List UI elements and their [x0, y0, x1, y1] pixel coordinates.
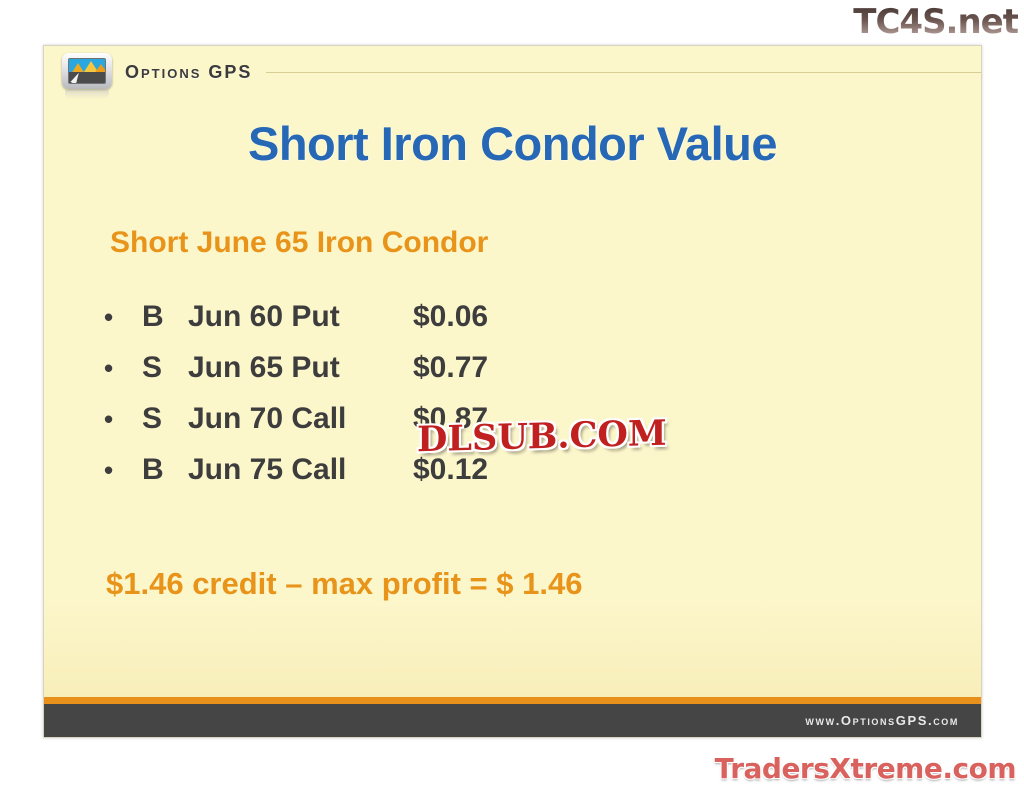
leg-description: Jun 75 Call [188, 453, 413, 487]
list-item: • S Jun 65 Put $0.77 [104, 351, 981, 402]
slide-body: Short Iron Condor Value Short June 65 Ir… [44, 98, 981, 697]
option-legs-list: • B Jun 60 Put $0.06 • S Jun 65 Put $0.7… [104, 300, 981, 504]
leg-description: Jun 65 Put [188, 351, 413, 385]
slide-footer: www.OptionsGPS.com [44, 697, 981, 737]
leg-price: $0.77 [413, 351, 488, 385]
gps-device-icon [62, 53, 112, 91]
bullet-icon: • [104, 355, 142, 381]
watermark-tradersxtreme: TradersXtreme.com [715, 752, 1016, 785]
page-title: Short Iron Condor Value [44, 116, 981, 171]
watermark-dlsub: DLSUB.COM [417, 413, 667, 461]
list-item: • B Jun 75 Call $0.12 [104, 453, 981, 504]
leg-price: $0.06 [413, 300, 488, 334]
header-divider [266, 72, 981, 73]
presentation-slide: Options GPS Short Iron Condor Value Shor… [43, 45, 982, 738]
profit-summary: $1.46 credit – max profit = $ 1.46 [106, 566, 981, 602]
brand-wordmark: Options GPS [125, 62, 252, 83]
watermark-tc4s: TC4S.net [853, 2, 1018, 42]
leg-side: S [142, 402, 188, 436]
list-item: • B Jun 60 Put $0.06 [104, 300, 981, 351]
bullet-icon: • [104, 304, 142, 330]
bullet-icon: • [104, 406, 142, 432]
footer-website-url: www.OptionsGPS.com [805, 713, 959, 728]
leg-side: B [142, 300, 188, 334]
logo-screen [68, 58, 106, 84]
leg-side: B [142, 453, 188, 487]
leg-description: Jun 70 Call [188, 402, 413, 436]
leg-description: Jun 60 Put [188, 300, 413, 334]
footer-accent-stripe [44, 697, 981, 704]
strategy-subheading: Short June 65 Iron Condor [110, 226, 981, 260]
leg-side: S [142, 351, 188, 385]
footer-bar: www.OptionsGPS.com [44, 704, 981, 737]
slide-header: Options GPS [44, 46, 981, 98]
bullet-icon: • [104, 457, 142, 483]
